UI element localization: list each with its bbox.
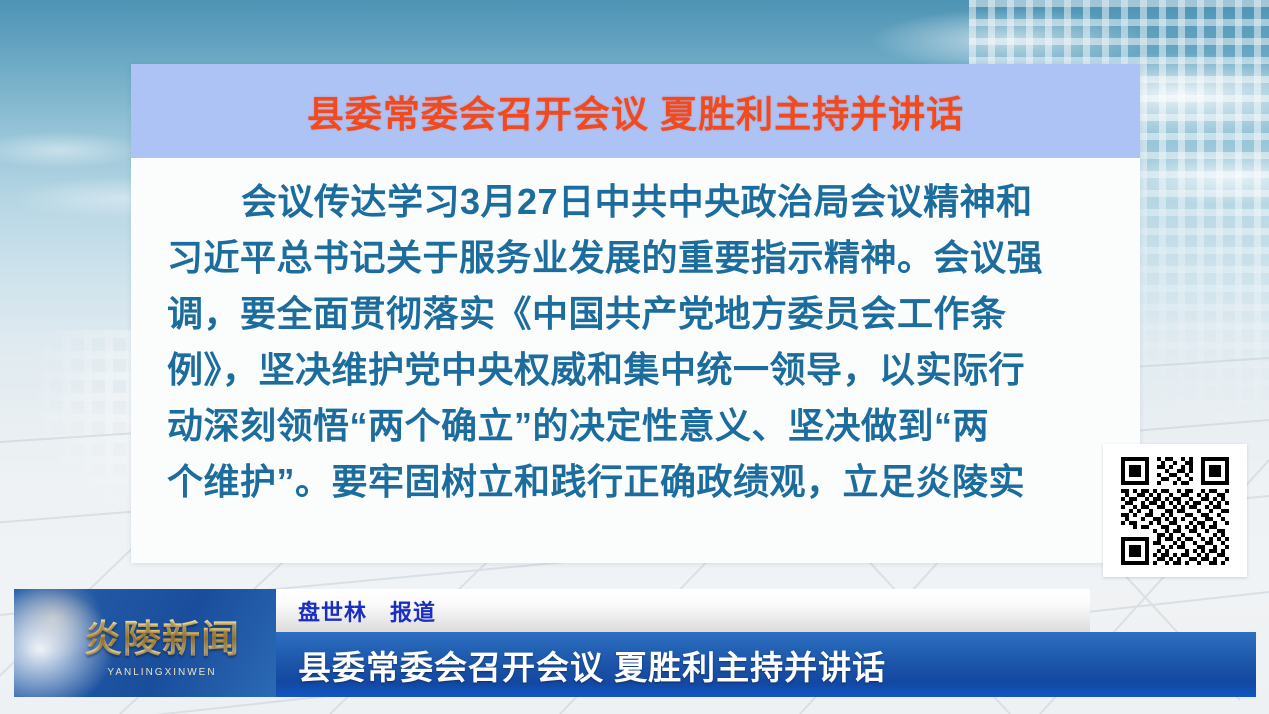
channel-logo: 炎陵新闻 YANLINGXINWEN <box>14 589 276 697</box>
channel-logo-pinyin: YANLINGXINWEN <box>107 667 216 678</box>
card-headline: 县委常委会召开会议 夏胜利主持并讲话 <box>307 84 964 138</box>
body-line: 例》，坚决维护党中央权威和集中统一领导，以实际行 <box>167 342 1104 398</box>
qr-code <box>1103 444 1247 577</box>
body-line: 习近平总书记关于服务业发展的重要指示精神。会议强 <box>167 230 1104 286</box>
card-headline-band: 县委常委会召开会议 夏胜利主持并讲话 <box>131 64 1140 158</box>
reporter-byline-bar: 盘世林 报道 <box>276 589 1090 632</box>
body-line: 动深刻领悟“两个确立”的决定性意义、坚决做到“两 <box>167 398 1104 454</box>
body-line: 调，要全面贯彻落实《中国共产党地方委员会工作条 <box>167 286 1104 342</box>
body-line: 会议传达学习3月27日中共中央政治局会议精神和 <box>167 174 1104 230</box>
card-body: 会议传达学习3月27日中共中央政治局会议精神和 习近平总书记关于服务业发展的重要… <box>131 158 1140 510</box>
reporter-byline: 盘世林 报道 <box>298 595 436 627</box>
news-text-card: 县委常委会召开会议 夏胜利主持并讲话 会议传达学习3月27日中共中央政治局会议精… <box>131 64 1140 563</box>
lower-third-title-bar: 县委常委会召开会议 夏胜利主持并讲话 <box>276 632 1256 697</box>
body-line: 个维护”。要牢固树立和践行正确政绩观，立足炎陵实 <box>167 454 1104 510</box>
broadcast-news-frame: 县委常委会召开会议 夏胜利主持并讲话 会议传达学习3月27日中共中央政治局会议精… <box>0 0 1269 714</box>
lower-third-title: 县委常委会召开会议 夏胜利主持并讲话 <box>298 641 886 689</box>
channel-logo-name: 炎陵新闻 <box>84 608 240 663</box>
